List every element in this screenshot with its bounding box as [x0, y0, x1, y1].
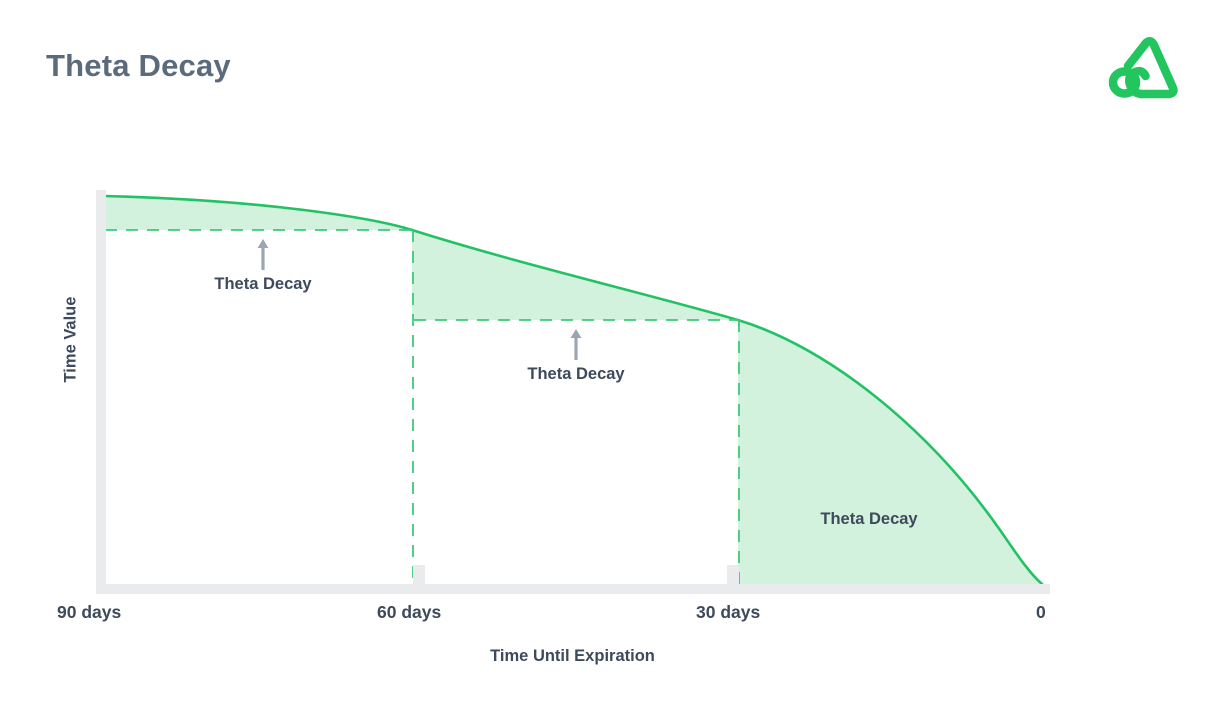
page-root: Theta Decay: [0, 0, 1215, 711]
x-axis-tick-label-60-days: 60 days: [377, 602, 441, 623]
x-axis-title: Time Until Expiration: [0, 647, 1145, 666]
chart-canvas: [0, 0, 1215, 711]
theta-decay-annotation-segment-3: Theta Decay: [820, 510, 917, 529]
theta-decay-arrow-icon-segment-1: [256, 238, 270, 270]
x-axis-tick-label-0: 0: [1036, 602, 1046, 623]
y-axis-title: Time Value: [62, 265, 81, 415]
theta-decay-annotation-segment-1: Theta Decay: [214, 275, 311, 294]
x-axis-tick-label-30-days: 30 days: [696, 602, 760, 623]
x-axis-bar: [96, 584, 1050, 594]
theta-decay-chart: Time Value Time Until Expiration 90 days…: [0, 0, 1215, 711]
y-axis-bar: [96, 190, 106, 584]
theta-decay-annotation-segment-2: Theta Decay: [527, 365, 624, 384]
x-axis-tick-label-90-days: 90 days: [57, 602, 121, 623]
x-axis-tick-60-days: [413, 565, 425, 584]
theta-decay-arrow-icon-segment-2: [569, 328, 583, 360]
x-axis-tick-30-days: [727, 565, 739, 584]
